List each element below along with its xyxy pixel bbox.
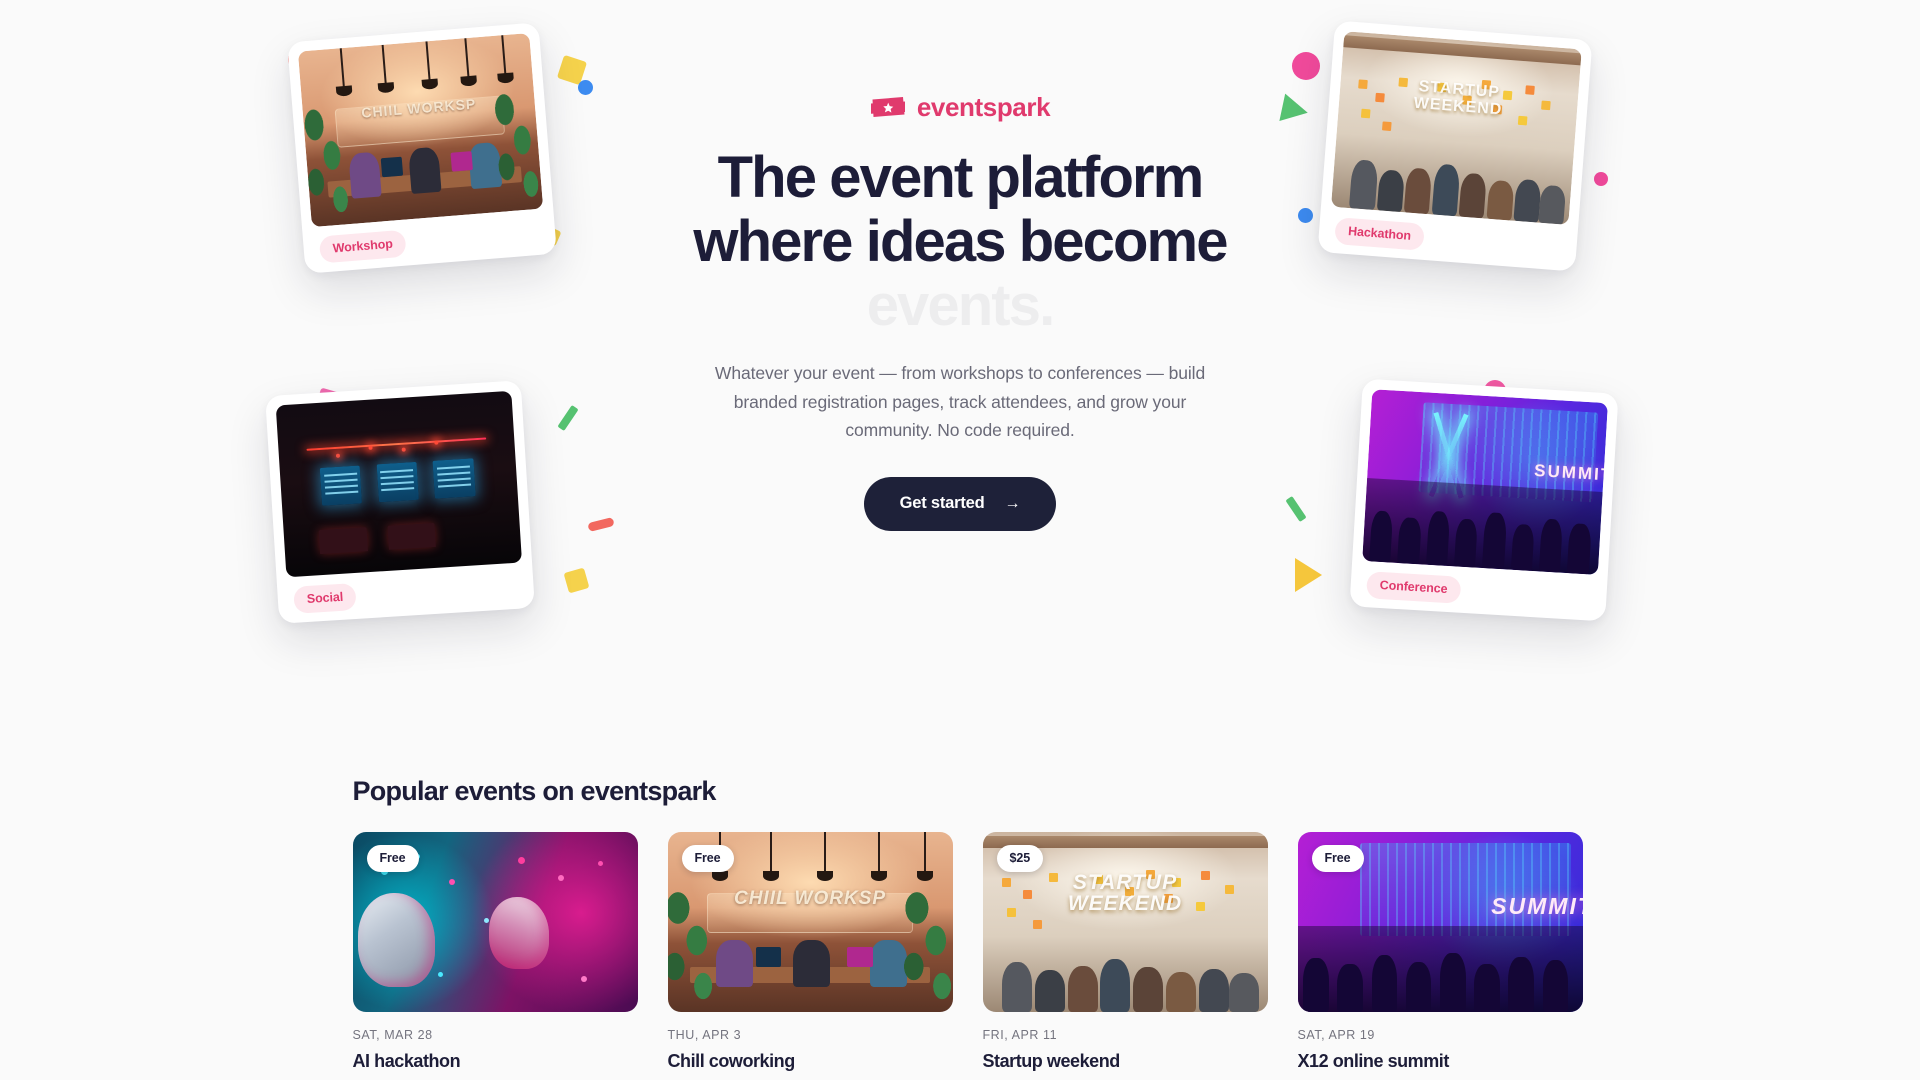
event-photo-workshop: CHIIL WORKSP <box>298 33 543 227</box>
event-name[interactable]: AI hackathon <box>353 1051 638 1072</box>
event-name[interactable]: X12 online summit <box>1298 1051 1583 1072</box>
category-chip: Hackathon <box>1334 217 1425 251</box>
price-badge: Free <box>367 845 419 872</box>
event-thumbnail[interactable]: Free <box>1298 832 1583 1012</box>
event-card[interactable]: Free <box>1298 832 1583 1072</box>
decor-chevron-green <box>557 405 578 431</box>
decor-circle-pink-2 <box>1594 172 1608 186</box>
event-card[interactable]: $25 <box>983 832 1268 1072</box>
event-name[interactable]: Startup weekend <box>983 1051 1268 1072</box>
brand-name: eventspark <box>917 94 1050 120</box>
event-photo-social <box>276 391 522 577</box>
event-card[interactable]: Free <box>353 832 638 1072</box>
event-photo-hackathon: STARTUP WEEKEND <box>1331 31 1582 225</box>
ticket-icon <box>870 94 906 120</box>
headline-line-2: where ideas become <box>640 210 1280 274</box>
hero-content: eventspark The event platform where idea… <box>640 94 1280 531</box>
price-badge: Free <box>1312 845 1364 872</box>
decor-square-yellow-3 <box>564 568 590 594</box>
event-photo-conference: SUMMIT <box>1362 389 1608 575</box>
page-title: The event platform where ideas become ev… <box>640 146 1280 337</box>
arrow-right-icon: → <box>1005 496 1021 512</box>
category-chip: Social <box>293 582 357 613</box>
decor-circle-pink <box>1292 52 1320 80</box>
event-card[interactable]: Free <box>668 832 953 1072</box>
floating-card-hackathon[interactable]: STARTUP WEEKEND Hackathon <box>1317 20 1592 271</box>
decor-triangle-green-2 <box>1279 94 1310 127</box>
hero-subtitle: Whatever your event — from workshops to … <box>702 359 1218 444</box>
cta-container: Get started → <box>640 477 1280 531</box>
price-badge: $25 <box>997 845 1044 872</box>
event-date: SAT, APR 19 <box>1298 1028 1583 1042</box>
event-date: SAT, MAR 28 <box>353 1028 638 1042</box>
headline-line-3: events. <box>640 274 1280 338</box>
hero-section: CHIIL WORKSP Workshop <box>0 0 1920 672</box>
event-thumbnail[interactable]: Free <box>668 832 953 1012</box>
section-title: Popular events on eventspark <box>353 776 1568 807</box>
decor-circle-blue <box>578 80 593 95</box>
floating-card-conference[interactable]: SUMMIT Conference <box>1349 379 1618 622</box>
decor-chevron-green-2 <box>1285 496 1306 522</box>
get-started-label: Get started <box>900 494 985 513</box>
events-grid: Free <box>353 832 1568 1072</box>
audience-decor <box>1362 478 1602 574</box>
category-chip: Workshop <box>319 229 407 263</box>
popular-events-section: Popular events on eventspark Free <box>0 672 1920 1072</box>
event-thumbnail[interactable]: $25 <box>983 832 1268 1012</box>
decor-circle-blue-2 <box>1298 208 1313 223</box>
floating-card-workshop[interactable]: CHIIL WORKSP Workshop <box>287 22 557 273</box>
event-thumbnail[interactable]: Free <box>353 832 638 1012</box>
category-chip: Conference <box>1366 571 1461 604</box>
get-started-button[interactable]: Get started → <box>864 477 1057 531</box>
brand-logo[interactable]: eventspark <box>640 94 1280 120</box>
headline-line-1: The event platform <box>640 146 1280 210</box>
decor-triangle-yellow <box>1295 558 1322 592</box>
price-badge: Free <box>682 845 734 872</box>
decor-bar-coral <box>587 517 614 532</box>
event-date: FRI, APR 11 <box>983 1028 1268 1042</box>
event-name[interactable]: Chill coworking <box>668 1051 953 1072</box>
event-date: THU, APR 3 <box>668 1028 953 1042</box>
floating-card-social[interactable]: Social <box>265 380 535 624</box>
